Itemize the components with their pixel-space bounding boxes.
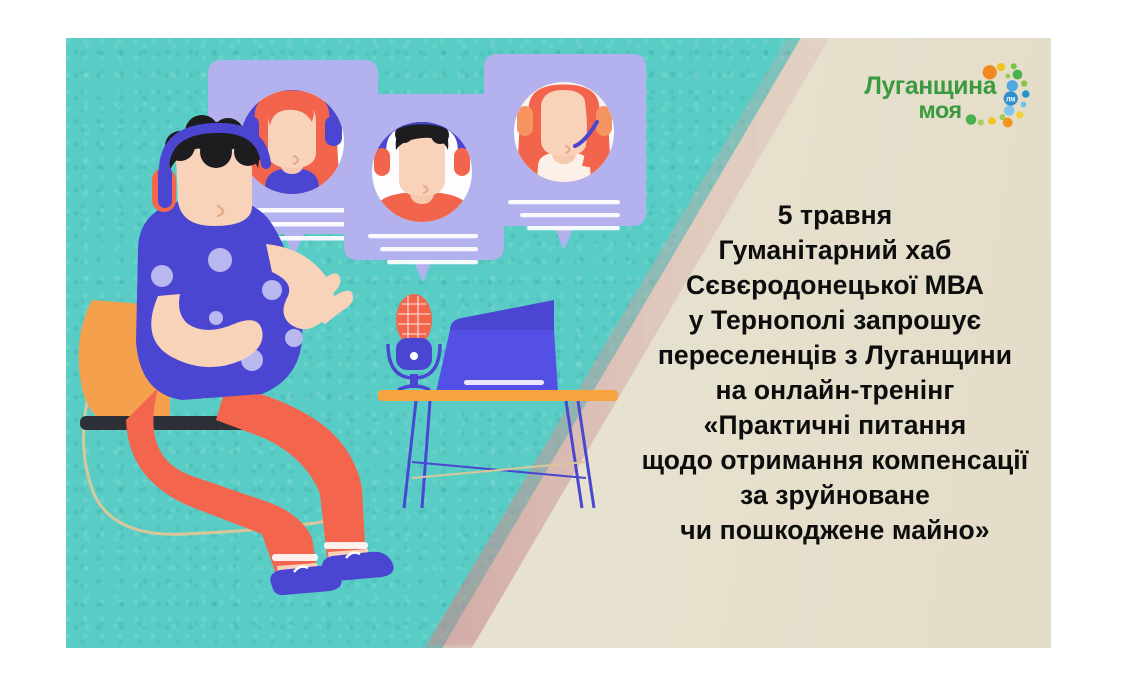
logo-dot-11 [1016, 111, 1024, 119]
headline-line-8: щодо отримання компенсації [629, 443, 1041, 478]
illustration [66, 38, 726, 648]
headline-line-2: Гуманітарний хаб [629, 233, 1041, 268]
headline-line-3: Сєвєродонецької МВА [629, 268, 1041, 303]
poster-image: Луганщина моя ЛМ 5 травня Гуманітарний х… [66, 38, 1051, 648]
logo-dot-14 [988, 117, 996, 125]
logo-dot-13 [1003, 118, 1013, 128]
logo-dot-10 [1004, 105, 1015, 116]
headline-line-1: 5 травня [629, 198, 1041, 233]
desk [378, 390, 618, 508]
logo-badge-label: ЛМ [1006, 98, 1015, 104]
logo-dot-0 [997, 63, 1005, 71]
logo-line2: моя [919, 97, 962, 123]
participant-card-2 [344, 94, 504, 282]
logo-dot-5 [1021, 80, 1027, 86]
microphone [388, 294, 440, 390]
logo-dot-15 [978, 120, 984, 126]
headline-line-6: на онлайн-тренінг [629, 373, 1041, 408]
logo-line1: Луганщина [865, 73, 997, 100]
logo-dot-7 [1022, 90, 1030, 98]
logo-dot-1 [1011, 63, 1017, 69]
logo-dot-6 [1007, 80, 1018, 91]
headline-line-7: «Практичні питання [629, 408, 1041, 443]
headline-line-9: за зруйноване [629, 478, 1041, 513]
headline-line-4: у Тернополі запрошує [629, 303, 1041, 338]
headline-line-10: чи пошкоджене майно» [629, 513, 1041, 548]
logo-dot-9 [1021, 102, 1027, 108]
headline-text: 5 травня Гуманітарний хаб Сєвєродонецько… [629, 198, 1041, 548]
logo-dot-3 [1005, 74, 1010, 79]
luganshchyna-moya-logo: Луганщина моя ЛМ [860, 50, 1040, 138]
participant-card-3 [484, 54, 646, 250]
laptop [436, 300, 558, 392]
headline-line-5: переселенців з Луганщини [629, 338, 1041, 373]
logo-badge: ЛМ [1004, 91, 1018, 105]
logo-dot-16 [966, 114, 977, 125]
logo-dot-4 [1013, 70, 1023, 80]
